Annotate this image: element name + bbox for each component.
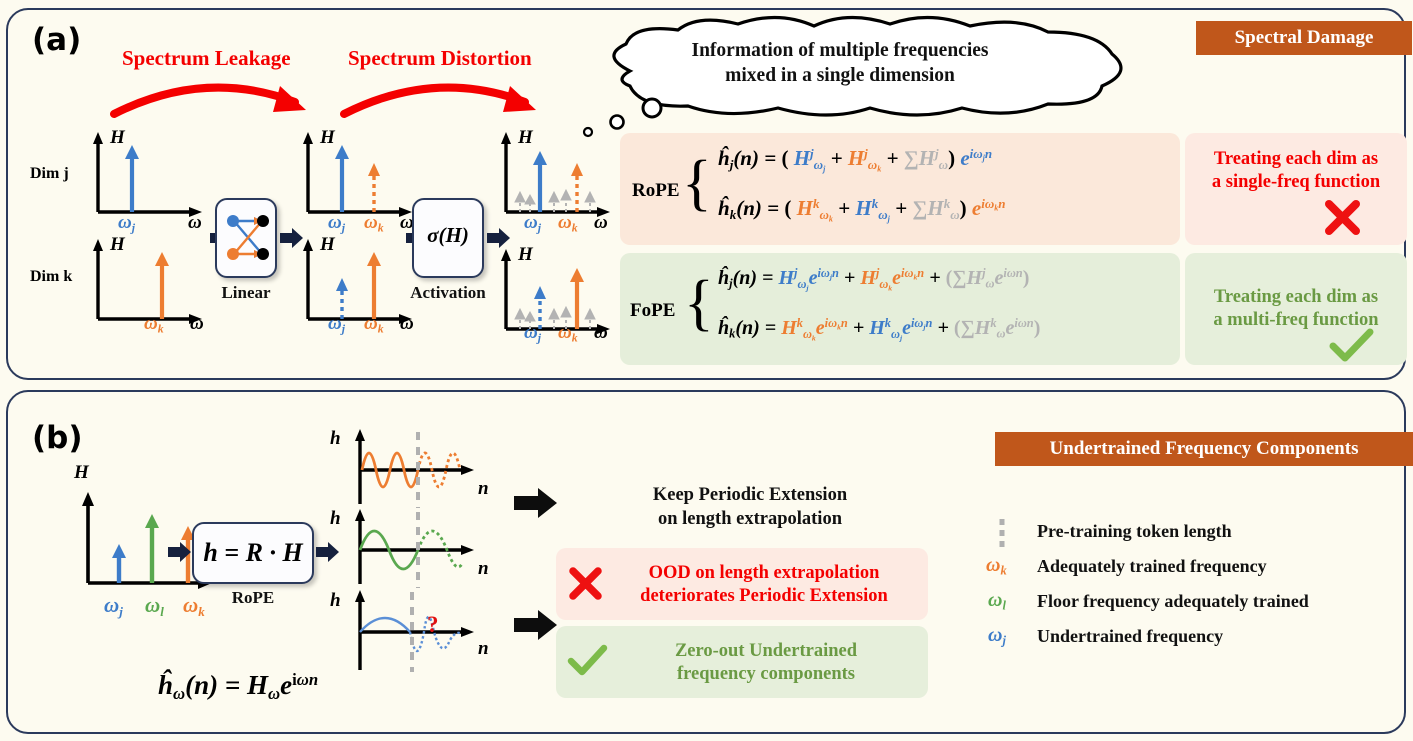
check-icon-fope	[1330, 330, 1374, 362]
dashed-line-icon	[996, 518, 1010, 548]
zero-out-line-1: Zero-out Undertrained	[612, 640, 920, 663]
axis-H-label-2: H	[110, 234, 125, 256]
axis-omega-label-2: ω	[190, 313, 204, 335]
spectrum-dim-j-leak	[300, 130, 425, 220]
legend-label-undertrained: Undertrained frequency	[1037, 626, 1223, 647]
cloud-line-2: mixed in a single dimension	[620, 63, 1060, 88]
axis-H-label-3: H	[320, 127, 335, 149]
tick-omega-j-4: ωj	[524, 212, 541, 236]
keep-periodic-line-1: Keep Periodic Extension	[570, 483, 930, 507]
cloud-line-1: Information of multiple frequencies	[620, 38, 1060, 63]
tick-omega-j-b: ωj	[104, 593, 123, 620]
dim-j-label: Dim j	[30, 165, 69, 183]
question-mark: ?	[427, 612, 439, 638]
rope-brace: {	[682, 152, 712, 214]
cross-icon-ood	[568, 566, 604, 602]
wave-1-x-label: n	[478, 478, 489, 500]
axis-omega-label-5: ω	[594, 212, 608, 234]
linear-network-icon	[222, 206, 272, 270]
fope-equation-1: ĥj(n) = Hjωjeiωjn + Hjωkeiωkn + (∑Hjωei…	[718, 266, 1029, 292]
legend-label-pretraining: Pre-training token length	[1037, 521, 1232, 542]
fope-note-text: Treating each dim as a multi-freq functi…	[1186, 286, 1406, 332]
spectrum-distortion-title: Spectrum Distortion	[348, 46, 532, 71]
fope-label: FoPE	[630, 300, 675, 322]
axis-omega-label-6: ω	[594, 322, 608, 344]
spectral-damage-badge: Spectral Damage	[1196, 21, 1412, 55]
rope-label: RoPE	[632, 180, 680, 202]
legend-label-adequately-trained: Adequately trained frequency	[1037, 556, 1267, 577]
panel-b-tag: (b)	[32, 420, 83, 456]
activation-block-caption: Activation	[404, 283, 492, 303]
legend-label-floor-frequency: Floor frequency adequately trained	[1037, 591, 1309, 612]
legend-symbol-omega-k: ωk	[986, 554, 1007, 579]
arrow-to-rope-block	[168, 542, 192, 562]
panel-a-tag: (a)	[32, 22, 81, 58]
tick-omega-j-1: ωj	[118, 212, 135, 236]
axis-H-label-4: H	[320, 234, 335, 256]
tick-omega-k-1: ωk	[144, 313, 164, 337]
wave-3-y-label: h	[330, 590, 341, 612]
tick-omega-k-3: ωk	[364, 313, 384, 337]
spectrum-distortion-arrow	[340, 72, 550, 120]
ood-line-1: OOD on length extrapolation	[608, 562, 920, 585]
rope-note-line-1: Treating each dim as	[1189, 148, 1403, 171]
ood-text: OOD on length extrapolation deteriorates…	[608, 562, 920, 608]
keep-periodic-line-2: on length extrapolation	[570, 507, 930, 531]
rope-block-formula: h = R · H	[192, 538, 314, 568]
spectrum-leakage-arrow	[110, 72, 320, 120]
zero-out-text: Zero-out Undertrained frequency componen…	[612, 640, 920, 686]
cloud-text: Information of multiple frequencies mixe…	[620, 38, 1060, 89]
spectrum-leakage-title: Spectrum Leakage	[122, 46, 291, 71]
arrow-from-activation	[487, 228, 511, 248]
wave-1-y-label: h	[330, 428, 341, 450]
fope-equation-2: ĥk(n) = Hkωkeiωkn + Hkωjeiωjn + (∑Hkωei…	[718, 316, 1040, 342]
rope-block-caption: RoPE	[192, 588, 314, 608]
tick-omega-k-2: ωk	[364, 212, 384, 236]
fope-note-line-1: Treating each dim as	[1186, 286, 1406, 309]
keep-periodic-text: Keep Periodic Extension on length extrap…	[570, 483, 930, 531]
axis-H-label-1: H	[110, 127, 125, 149]
ood-line-2: deteriorates Periodic Extension	[608, 585, 920, 608]
check-icon-zero-out	[568, 646, 608, 676]
dim-k-label: Dim k	[30, 268, 72, 286]
tick-omega-j-5: ωj	[524, 322, 541, 346]
activation-formula: σ(H)	[412, 223, 484, 248]
tick-omega-k-5: ωk	[558, 322, 578, 346]
tick-omega-k-4: ωk	[558, 212, 578, 236]
tick-omega-l-b: ωl	[145, 593, 164, 620]
arrow-from-rope-block	[316, 542, 340, 562]
rope-note-line-2: a single-freq function	[1189, 171, 1403, 194]
panel-b-bottom-equation: ĥω(n) = Hωeiωn	[158, 670, 318, 704]
wave-2-x-label: n	[478, 558, 489, 580]
tick-omega-j-2: ωj	[328, 212, 345, 236]
wave-2-y-label: h	[330, 508, 341, 530]
wave-3-x-label: n	[478, 638, 489, 660]
fope-note-line-2: a multi-freq function	[1186, 309, 1406, 332]
linear-block-caption: Linear	[205, 283, 287, 303]
undertrained-badge: Undertrained Frequency Components	[995, 432, 1413, 466]
rope-note-text: Treating each dim as a single-freq funct…	[1189, 148, 1403, 194]
tick-omega-j-3: ωj	[328, 313, 345, 337]
axis-H-label-b: H	[74, 462, 89, 484]
rope-equation-2: ĥk(n) = ( Hkωk + Hkωj + ∑Hkω) eiωkn	[718, 196, 1006, 223]
rope-equation-1: ĥj(n) = ( Hjωj + Hjωk + ∑Hjω) eiωjn	[718, 146, 992, 173]
axis-omega-label-4: ω	[400, 313, 414, 335]
axis-H-label-6: H	[518, 244, 533, 266]
axis-omega-label-1: ω	[188, 212, 202, 234]
cross-icon-rope	[1323, 198, 1363, 238]
arrow-to-keep-periodic	[514, 488, 558, 518]
arrow-to-zero-out	[514, 610, 558, 640]
spectrum-dim-j-input	[90, 130, 215, 220]
zero-out-line-2: frequency components	[612, 663, 920, 686]
fope-brace: {	[684, 272, 714, 334]
spectrum-dim-j-distorted	[498, 130, 623, 220]
legend-symbol-omega-j: ωj	[988, 624, 1006, 649]
legend-symbol-omega-l: ωl	[988, 589, 1006, 614]
axis-H-label-5: H	[518, 127, 533, 149]
